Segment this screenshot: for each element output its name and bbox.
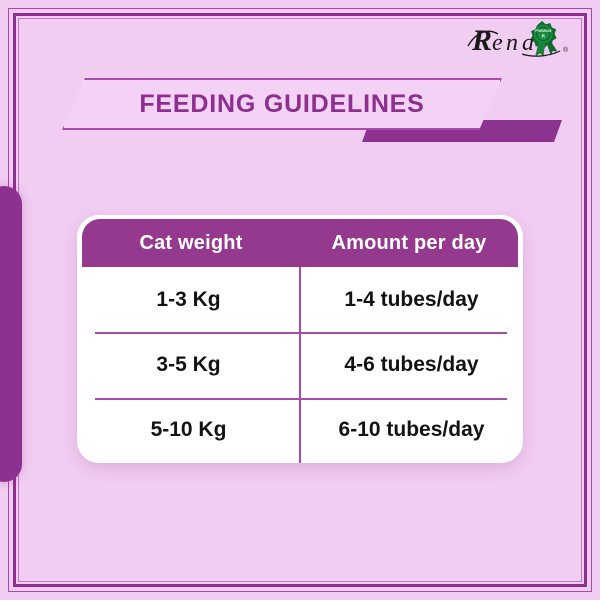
svg-text:R: R xyxy=(471,24,492,57)
table-row: 1-3 Kg 1-4 tubes/day xyxy=(77,267,523,332)
cell-cat-weight: 5-10 Kg xyxy=(77,418,300,442)
page-title: FEEDING GUIDELINES xyxy=(62,78,502,130)
brand-logo: PREMIUM R R e n a ® xyxy=(464,18,576,66)
feeding-table-card: Cat weight Amount per day 1-3 Kg 1-4 tub… xyxy=(77,215,523,463)
feeding-table: Cat weight Amount per day 1-3 Kg 1-4 tub… xyxy=(77,215,523,463)
table-header-row: Cat weight Amount per day xyxy=(82,219,518,267)
cell-amount-per-day: 6-10 tubes/day xyxy=(300,418,523,442)
left-accent-bar xyxy=(0,186,22,482)
cell-cat-weight: 1-3 Kg xyxy=(77,288,300,312)
rosette-seal-icon: PREMIUM R xyxy=(530,21,557,57)
svg-text:n: n xyxy=(506,30,518,56)
feeding-guidelines-poster: PREMIUM R R e n a ® FEEDING GUIDELINES xyxy=(0,0,600,600)
svg-text:PREMIUM: PREMIUM xyxy=(535,29,551,33)
table-row: 5-10 Kg 6-10 tubes/day xyxy=(77,398,523,463)
cell-amount-per-day: 4-6 tubes/day xyxy=(300,353,523,377)
table-row: 3-5 Kg 4-6 tubes/day xyxy=(77,332,523,397)
table-body: 1-3 Kg 1-4 tubes/day 3-5 Kg 4-6 tubes/da… xyxy=(77,267,523,463)
cell-amount-per-day: 1-4 tubes/day xyxy=(300,288,523,312)
column-header-cat-weight: Cat weight xyxy=(82,219,300,267)
svg-text:a: a xyxy=(522,30,534,56)
svg-text:®: ® xyxy=(563,46,569,54)
title-banner: FEEDING GUIDELINES xyxy=(62,78,520,146)
column-header-amount-per-day: Amount per day xyxy=(300,219,518,267)
cell-cat-weight: 3-5 Kg xyxy=(77,353,300,377)
